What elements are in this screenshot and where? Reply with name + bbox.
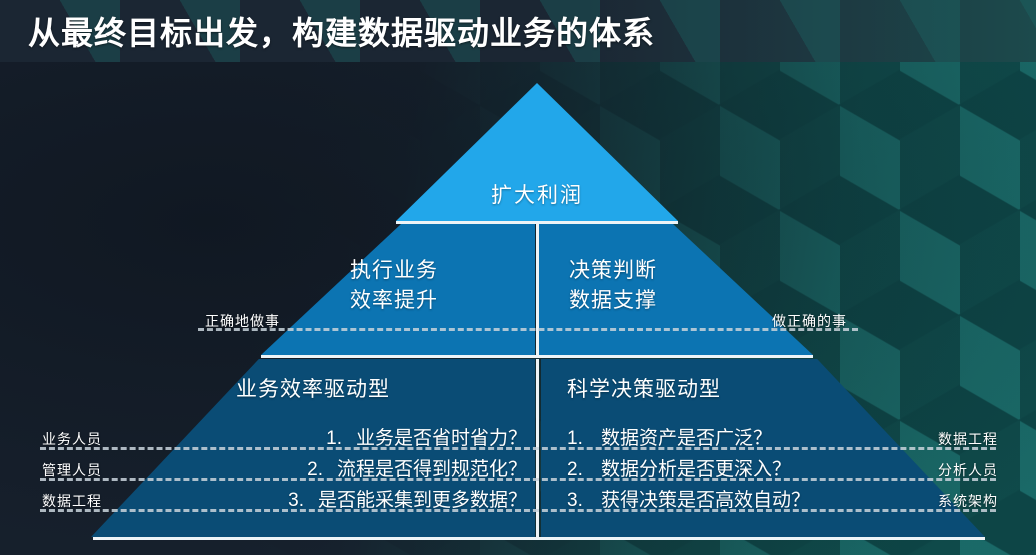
role-label-right-2: 分析人员: [938, 460, 998, 480]
role-label-right-1: 数据工程: [938, 429, 998, 449]
guide-line-middle: [198, 328, 858, 331]
caption-middle-left: 正确地做事: [205, 311, 280, 331]
pyramid-tier-top-label: 扩大利润: [396, 179, 678, 209]
bottom-left-title: 业务效率驱动型: [91, 373, 535, 403]
pyramid-base-line: [93, 537, 985, 540]
pyramid-tier-middle-right-text: 决策判断 数据支撑: [547, 256, 813, 316]
guide-line-row-2: [40, 478, 996, 481]
pyramid-tier-top[interactable]: 扩大利润: [396, 83, 678, 221]
role-label-left-2: 管理人员: [42, 460, 102, 480]
pyramid-tier-middle-left-text: 执行业务 效率提升: [261, 256, 527, 316]
role-label-right-3: 系统架构: [938, 491, 998, 511]
slide-canvas: 从最终目标出发，构建数据驱动业务的体系 扩大利润 执行业务 效率提升 决策判断 …: [0, 0, 1036, 555]
guide-line-row-3: [40, 509, 996, 512]
middle-left-line-1: 执行业务: [261, 256, 527, 286]
bottom-right-list: 1. 数据资产是否广泛？ 2. 数据分析是否更深入？ 3. 获得决策是否高效自动…: [567, 423, 987, 516]
role-label-left-1: 业务人员: [42, 429, 102, 449]
role-label-left-3: 数据工程: [42, 491, 102, 511]
middle-right-line-1: 决策判断: [569, 256, 813, 286]
caption-middle-right: 做正确的事: [772, 311, 847, 331]
pyramid-divider-middle: [261, 355, 813, 358]
guide-line-row-1: [40, 447, 996, 450]
pyramid-diagram: 扩大利润 执行业务 效率提升 决策判断 数据支撑 业务效率驱动型 科学决策驱动型: [0, 0, 1036, 555]
bottom-left-list: 1. 业务是否省时省力？ 2. 流程是否得到规范化？ 3. 是否能采集到更多数据…: [91, 423, 535, 516]
middle-left-line-2: 效率提升: [261, 286, 527, 316]
bottom-right-title: 科学决策驱动型: [567, 373, 721, 403]
pyramid-vertical-divider-middle: [536, 224, 539, 355]
